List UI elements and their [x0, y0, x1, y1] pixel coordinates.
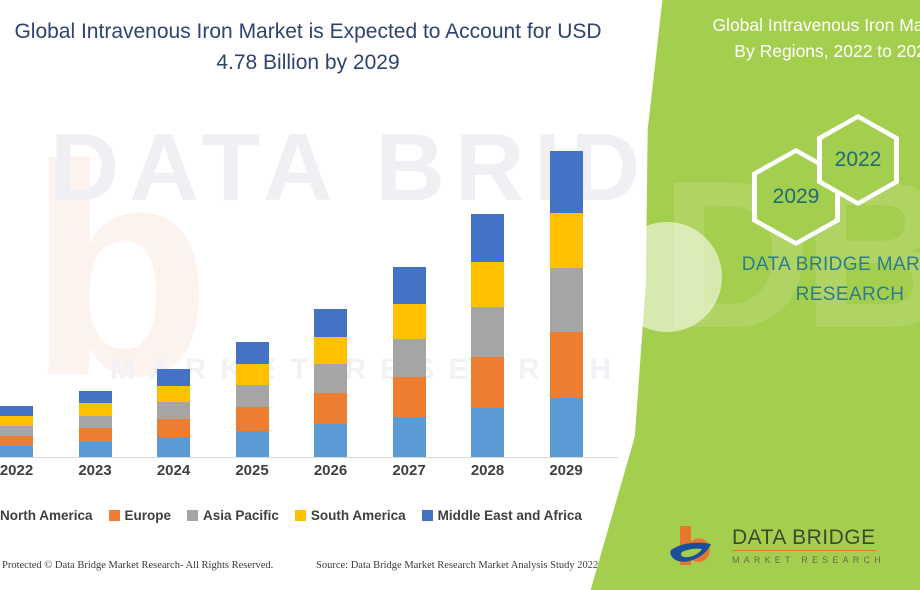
bar-segment-2026-europe [314, 393, 347, 424]
x-axis-label-2023: 2023 [60, 462, 130, 479]
brand-logo: DATA BRIDGE MARKET RESEARCH [668, 518, 918, 576]
panel-title-line-2: By Regions, 2022 to 2029 [690, 38, 920, 64]
bar-segment-2023-europe [79, 428, 112, 442]
x-axis-label-2027: 2027 [374, 462, 444, 479]
panel-title-line-1: Global Intravenous Iron Market, [690, 12, 920, 38]
bar-segment-2024-asia-pacific [157, 402, 190, 419]
brand-logo-text: DATA BRIDGE MARKET RESEARCH [732, 527, 885, 567]
bar-2026[interactable] [314, 309, 347, 457]
brand-logo-name: DATA BRIDGE [732, 527, 876, 551]
legend-label: North America [0, 508, 93, 523]
bar-2027[interactable] [393, 267, 426, 457]
panel-title: Global Intravenous Iron Market, By Regio… [690, 12, 920, 64]
x-axis-label-2024: 2024 [139, 462, 209, 479]
footer-source: Source: Data Bridge Market Research Mark… [316, 560, 598, 571]
footer-copyright: Protected © Data Bridge Market Research-… [2, 560, 273, 571]
legend-label: Asia Pacific [203, 508, 279, 523]
hexagon-badge-2022-label: 2022 [835, 148, 882, 172]
bar-segment-2029-north-america [550, 398, 583, 457]
bar-segment-2029-middle-east-and-africa [550, 151, 583, 213]
bar-segment-2027-asia-pacific [393, 339, 426, 377]
page-title-line-2: 4.78 Billion by 2029 [8, 47, 608, 78]
bar-segment-2025-north-america [236, 431, 269, 457]
legend-swatch-icon [295, 510, 306, 521]
bar-segment-2024-north-america [157, 437, 190, 457]
bar-segment-2022-south-america [0, 416, 33, 426]
bar-segment-2028-north-america [471, 408, 504, 457]
x-axis-labels: 20222023202420252026202720282029 [0, 462, 618, 490]
legend-swatch-icon [422, 510, 433, 521]
legend-swatch-icon [187, 510, 198, 521]
bar-segment-2028-middle-east-and-africa [471, 214, 504, 263]
x-axis-line [0, 457, 618, 458]
bar-segment-2022-asia-pacific [0, 426, 33, 436]
bar-segment-2023-south-america [79, 403, 112, 415]
panel-glow-circle [612, 222, 722, 332]
bar-segment-2026-middle-east-and-africa [314, 309, 347, 337]
bar-segment-2027-middle-east-and-africa [393, 267, 426, 304]
bar-segment-2025-europe [236, 407, 269, 431]
bar-segment-2028-asia-pacific [471, 307, 504, 357]
panel-brand-line-1: DATA BRIDGE MARKET [700, 250, 920, 280]
legend-item-north-america[interactable]: North America [0, 508, 93, 523]
bar-segment-2023-north-america [79, 442, 112, 457]
legend-label: Europe [125, 508, 172, 523]
bar-segment-2024-middle-east-and-africa [157, 369, 190, 386]
chart-legend: North AmericaEuropeAsia PacificSouth Ame… [0, 504, 618, 526]
panel-brand-text: DATA BRIDGE MARKET RESEARCH [700, 250, 920, 310]
legend-item-asia-pacific[interactable]: Asia Pacific [187, 508, 279, 523]
bar-segment-2027-europe [393, 377, 426, 417]
bar-segment-2024-europe [157, 419, 190, 437]
brand-logo-subtitle: MARKET RESEARCH [732, 553, 885, 567]
bar-segment-2027-north-america [393, 417, 426, 457]
legend-label: Middle East and Africa [438, 508, 582, 523]
x-axis-label-2022: 2022 [0, 462, 52, 479]
bar-segment-2027-south-america [393, 304, 426, 339]
bar-segment-2025-south-america [236, 364, 269, 385]
bar-2024[interactable] [157, 369, 190, 457]
hexagon-badge-2029-label: 2029 [773, 185, 820, 209]
bar-segment-2029-asia-pacific [550, 268, 583, 332]
bar-segment-2029-europe [550, 332, 583, 398]
bar-segment-2023-asia-pacific [79, 416, 112, 429]
legend-label: South America [311, 508, 406, 523]
x-axis-label-2029: 2029 [531, 462, 601, 479]
panel-brand-line-2: RESEARCH [700, 280, 920, 310]
hexagon-badge-2022: 2022 [817, 114, 899, 206]
bar-segment-2022-europe [0, 436, 33, 446]
bar-2023[interactable] [79, 391, 112, 457]
page-title-line-1: Global Intravenous Iron Market is Expect… [8, 16, 608, 47]
bar-segment-2029-south-america [550, 213, 583, 268]
bar-chart-plot-area [0, 120, 618, 458]
footer: Protected © Data Bridge Market Research-… [0, 560, 618, 580]
bar-segment-2025-asia-pacific [236, 385, 269, 407]
bar-segment-2026-south-america [314, 337, 347, 364]
bar-segment-2023-middle-east-and-africa [79, 391, 112, 404]
data-bridge-logo-icon [668, 522, 724, 572]
legend-item-middle-east-and-africa[interactable]: Middle East and Africa [422, 508, 582, 523]
bar-2022[interactable] [0, 406, 33, 457]
bar-segment-2025-middle-east-and-africa [236, 342, 269, 364]
page-title: Global Intravenous Iron Market is Expect… [8, 16, 608, 78]
bar-segment-2024-south-america [157, 386, 190, 402]
legend-item-europe[interactable]: Europe [109, 508, 172, 523]
x-axis-label-2025: 2025 [217, 462, 287, 479]
bar-segment-2028-europe [471, 357, 504, 408]
legend-item-south-america[interactable]: South America [295, 508, 406, 523]
bar-2025[interactable] [236, 342, 269, 457]
legend-swatch-icon [109, 510, 120, 521]
bar-segment-2026-asia-pacific [314, 364, 347, 393]
bar-segment-2022-north-america [0, 446, 33, 457]
x-axis-label-2028: 2028 [453, 462, 523, 479]
bar-segment-2026-north-america [314, 424, 347, 457]
bar-2028[interactable] [471, 214, 504, 457]
bar-segment-2028-south-america [471, 262, 504, 307]
bar-2029[interactable] [550, 151, 583, 457]
infographic-canvas: b DATA BRIDGE MARKET RESEARCH Global Int… [0, 0, 920, 590]
x-axis-label-2026: 2026 [296, 462, 366, 479]
bar-segment-2022-middle-east-and-africa [0, 406, 33, 416]
